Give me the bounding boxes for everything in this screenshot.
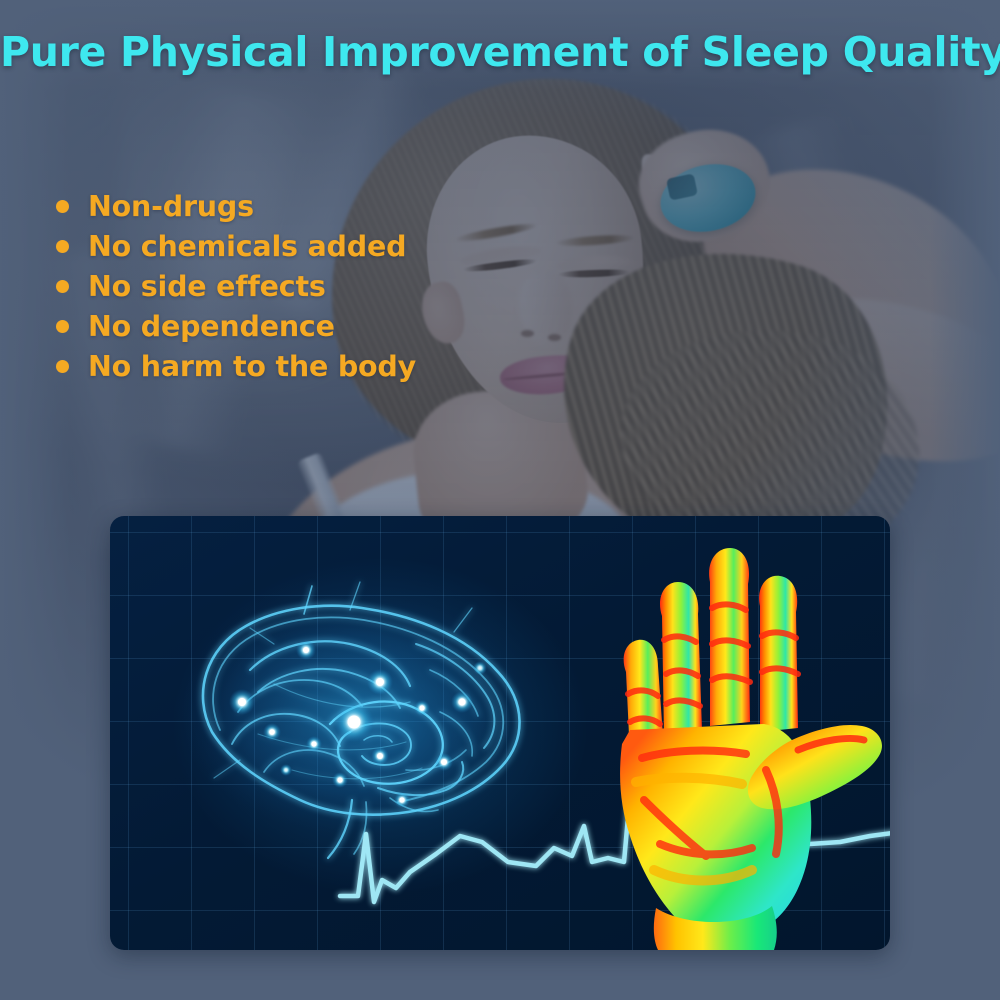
product-marketing-image: Pure Physical Improvement of Sleep Quali… [0, 0, 1000, 1000]
list-item-label: No dependence [88, 310, 335, 343]
list-item: No side effects [56, 266, 576, 306]
list-item: No harm to the body [56, 346, 576, 386]
list-item: Non-drugs [56, 186, 576, 226]
list-item-label: No chemicals added [88, 230, 406, 263]
list-item-label: No side effects [88, 270, 326, 303]
page-title: Pure Physical Improvement of Sleep Quali… [0, 28, 1000, 76]
fingers [624, 548, 798, 756]
list-item: No dependence [56, 306, 576, 346]
list-item-label: Non-drugs [88, 190, 254, 223]
tech-illustration-panel [110, 516, 890, 950]
bullet-dot-icon [56, 280, 69, 293]
bullet-dot-icon [56, 240, 69, 253]
benefits-list: Non-drugs No chemicals added No side eff… [56, 186, 576, 386]
bullet-dot-icon [56, 320, 69, 333]
list-item-label: No harm to the body [88, 350, 416, 383]
bullet-dot-icon [56, 200, 69, 213]
bullet-dot-icon [56, 360, 69, 373]
thermal-hand-image [560, 544, 890, 950]
list-item: No chemicals added [56, 226, 576, 266]
